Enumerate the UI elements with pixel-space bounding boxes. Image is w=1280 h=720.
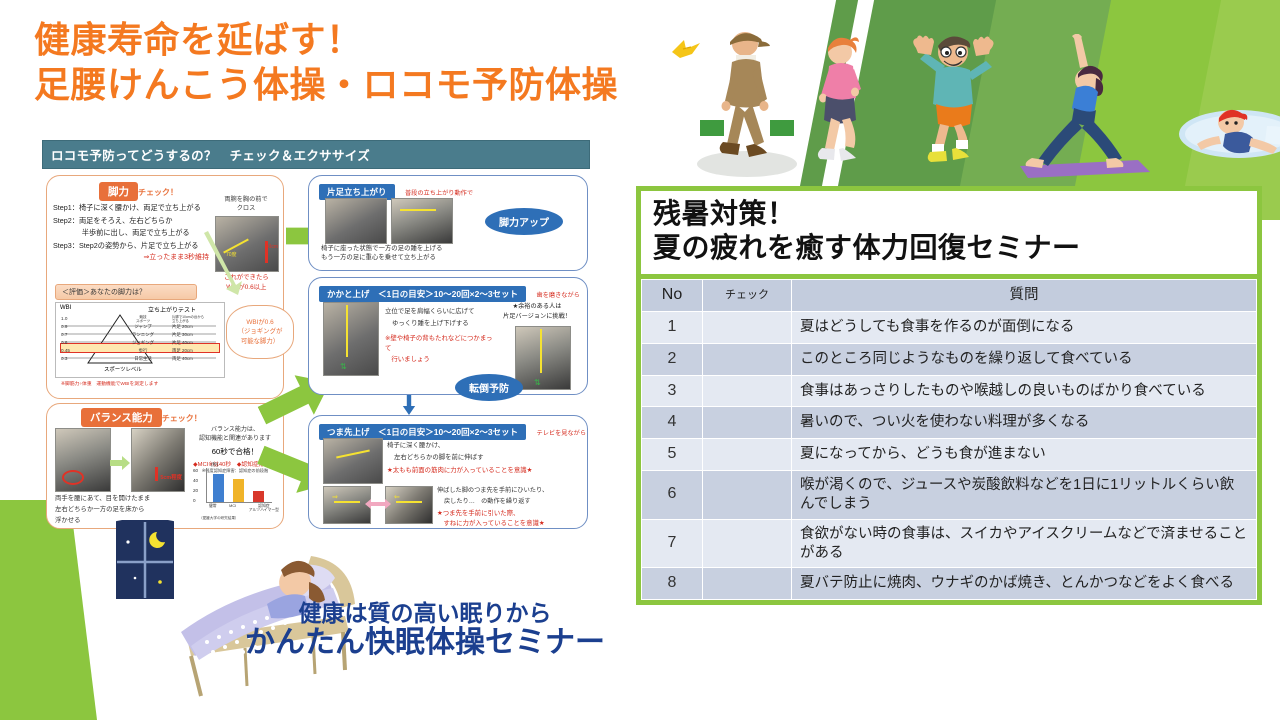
diagram-header: ロコモ予防ってどうするの？ チェック＆エクササイズ [42,140,590,169]
table-row: 8 夏バテ防止に焼肉、ウナギのかば焼き、とんかつなどをよく食べる [642,568,1257,600]
exercise-3-photo-c: ⇐ [385,486,433,524]
bar-dementia [253,491,264,502]
wbi-test-2: 片足 30cm [172,331,204,339]
leg-check-badge: 脚力 [99,182,138,201]
wbi-sport-0: 競技 スポーツ [118,315,168,323]
row-check-cell[interactable] [703,519,792,568]
exercise-1-bullet-1: もう一方の足に重心を乗せて立ち上がる [321,253,442,262]
wbi-axis-label: WBI [60,305,71,311]
seminar-title: 残暑対策！ 夏の疲れを癒す体力回復セミナー [653,197,1247,264]
balance-check-badge-suffix: チェック！ [162,414,202,423]
exercise-1-photo-b [391,198,453,244]
balance-check-box: バランス能力チェック！ 5cm程度 バランス能力は、 認知機能と関連があります … [46,403,284,529]
leg-check-badge-suffix: チェック！ [138,188,178,197]
balance-photo-1 [55,428,111,492]
row-check-cell[interactable] [703,407,792,439]
leg-step-2: Step2：両足をそろえ、左右どちらか [53,215,213,228]
row-no: 6 [642,470,703,519]
row-question: 夏になってから、どうも食が進まない [792,439,1257,471]
exercise-2-note-red: ※壁や椅子の背もたれなどにつかまって 行いましょう [385,334,493,365]
wbi-sport-1: ジャンプ [118,323,168,331]
row-no: 2 [642,343,703,375]
table-row: 6 喉が渇くので、ジュースや炭酸飲料などを1日に1リットルくらい飲んでしまう [642,470,1257,519]
illustration-group [650,8,1270,183]
pink-double-arrow-icon [365,498,391,510]
bar-mci [233,479,244,502]
wbi-val-3: 0.6 [61,339,70,347]
exercise-2-badge: 転倒予防 [455,374,523,401]
bar-chart-unit: (秒) [211,462,218,468]
exercise-3-bullet-0: 椅子に深く腰かけ、 [387,440,579,452]
exercise-2-photo-b: ⇅ [515,326,571,390]
row-check-cell[interactable] [703,375,792,407]
leg-step-3: Step3：Step2の姿勢から、片足で立ち上がる [53,240,213,253]
exercise-1-badge: 脚力アップ [485,208,563,235]
table-header-row: No チェック 質問 [642,280,1257,312]
row-no: 7 [642,519,703,568]
wbi-val-5: 0.3 [61,355,70,363]
wbi-test-0: 片脚で10cmの台から 立ち上がる [172,315,204,323]
wbi-val-2: 0.7 [61,331,70,339]
table-row: 7 食欲がない時の食事は、スイカやアイスクリームなどで済ませることがある [642,519,1257,568]
jogging-woman-illustration [798,26,888,181]
balance-photo-2: 5cm程度 [131,428,185,492]
table-row: 2 このところ同じようなものを繰り返して食べている [642,343,1257,375]
row-check-cell[interactable] [703,439,792,471]
wbi-sport-2: ランニング [118,331,168,339]
bar-label-0: 健常 [209,504,217,512]
jumping-man-illustration [898,28,1008,183]
leg-callout-bubble: WBIが0.6 （ジョギングが 可能な脚力） [226,305,294,359]
leg-photo-height: 40cm [266,245,278,250]
locomo-diagram: ロコモ予防ってどうするの？ チェック＆エクササイズ 脚力チェック！ Step1：… [42,140,590,530]
exercise-3-bullet-1: 左右どちらかの脚を前に伸ばす [387,452,579,464]
leg-eval-label: ＜評価＞あなたの脚力は？ [55,284,197,300]
green-pointer-line [202,229,248,299]
row-no: 3 [642,375,703,407]
exercise-1-bullet-0: 椅子に座った状態で一方の足の踵を上げる [321,244,442,253]
row-check-cell[interactable] [703,568,792,600]
balance-photo-label: 5cm程度 [160,473,182,481]
exercise-2-photo-a: ⇅ [323,302,379,376]
exercise-box-2: かかと上げ ＜1日の目安＞10～20回×2～3セット 歯を磨きながら ⇅ 立位で… [308,277,588,395]
row-check-cell[interactable] [703,470,792,519]
exercise-1-photo-a [325,198,387,244]
row-question: このところ同じようなものを繰り返して食べている [792,343,1257,375]
row-no: 1 [642,311,703,343]
bar-label-1: MCI [229,504,236,512]
balance-check-badge: バランス能力 [81,408,162,427]
small-green-arrow-icon [110,456,130,470]
exercise-3-note-red-2: ★つま先を手前に引いた際、 すねに力が入っていることを意識★ [437,509,581,530]
wbi-val-1: 0.9 [61,323,70,331]
wbi-test-5: 両足 40cm [172,355,204,363]
wbi-chart: WBI 立ち上がりテスト 1.0 0.9 0.7 [55,302,225,378]
wbi-val-0: 1.0 [61,315,70,323]
table-row: 3 食事はあっさりしたものや喉越しの良いものばかり食べている [642,375,1257,407]
row-question: 夏バテ防止に焼肉、ウナギのかば焼き、とんかつなどをよく食べる [792,568,1257,600]
row-check-cell[interactable] [703,311,792,343]
row-question: 喉が渇くので、ジュースや炭酸飲料などを1日に1リットルくらい飲んでしまう [792,470,1257,519]
exercise-3-photo-a [323,438,383,484]
exercise-3-bullet2-1: 戻したり… の動作を繰り返す [437,497,581,508]
sleep-seminar-line1: 健康は質の高い眠りから [245,600,605,626]
exercise-box-1: 片足立ち上がり 普段の立ち上がり動作で 脚力アップ 椅子に座った状態で一方の足の… [308,175,588,271]
balance-note: バランス能力は、 認知機能と関連があります [191,426,279,443]
walking-man-illustration [692,22,802,182]
slide-canvas: 健康寿命を延ばす！ 足腰けんこう体操・ロコモ予防体操 [0,0,1280,720]
wbi-test-4: 両足 20cm [172,347,204,355]
row-no: 5 [642,439,703,471]
page-title: 健康寿命を延ばす！ 足腰けんこう体操・ロコモ予防体操 [34,18,618,107]
leg-photo-caption: 両腕を胸の前で クロス [215,196,277,214]
checklist-table-wrap: No チェック 質問 1 夏はどうしても食事を作るのが面倒になる 2 このところ [636,279,1262,605]
row-question: 食欲がない時の食事は、スイカやアイスクリームなどで済ませることがある [792,519,1257,568]
col-header-question: 質問 [792,280,1257,312]
balance-bullet-1: 左右どちらか一方の足を床から [55,505,187,516]
leg-step-1: Step1：椅子に深く腰かけ、両足で立ち上がる [53,202,213,215]
checklist-table: No チェック 質問 1 夏はどうしても食事を作るのが面倒になる 2 このところ [641,279,1257,600]
wbi-test-1: 片足 20cm [172,323,204,331]
wbi-sport-3: ジョギング [118,339,168,347]
swimming-woman-illustration [1175,90,1280,170]
exercise-2-bullet-1: ゆっくり踵を上げ下げする [385,318,493,330]
leg-step-2b: 半歩前に出し、両足で立ち上がる [53,227,213,240]
exercise-3-subtitle: テレビを見ながら [537,430,587,437]
wbi-sport-4: 歩行 [118,347,168,355]
seminar-title-box: 残暑対策！ 夏の疲れを癒す体力回復セミナー [636,186,1262,279]
table-row: 5 夏になってから、どうも食が進まない [642,439,1257,471]
right-panel: 残暑対策！ 夏の疲れを癒す体力回復セミナー No チェック 質問 1 夏はどうし… [636,186,1262,706]
exercise-3-photo-b: ⇒ [323,486,371,524]
row-no: 4 [642,407,703,439]
col-header-check: チェック [703,280,792,312]
wbi-sport-5: 日常生活 [118,355,168,363]
bar-label-2: 認知症 アルツハイマー型 [249,504,279,512]
exercise-3-note-red-1: ★太もも前面の筋肉に力が入っていることを意識★ [387,467,579,476]
row-no: 8 [642,568,703,600]
yoga-woman-illustration [1010,34,1150,184]
exercise-3-bullet2-0: 伸ばした脚のつま先を手前にひいたり、 [437,486,581,497]
exercise-2-challenge: ★余裕のある人は 片足バージョンに挑戦！ [495,302,579,322]
wbi-footnote: ※脚筋力÷体重 運動機能でWBIを測定します [61,380,158,387]
exercise-2-title: かかと上げ ＜1日の目安＞10～20回×2～3セット [319,286,526,302]
exercise-box-3: つま先上げ ＜1日の目安＞10～20回×2～3セット テレビを見ながら 椅子に深… [308,415,588,529]
exercise-1-subtitle: 普段の立ち上がり動作で [405,190,473,197]
bar-healthy [213,474,224,502]
green-band-bottom-left [0,500,102,720]
wbi-val-4: 0.45 [61,347,70,355]
leg-step-note: ⇒立ったまま3秒維持 [53,252,213,262]
balance-bullet-0: 両手を腰にあて、目を開けたまま [55,494,187,505]
exercise-2-subtitle: 歯を磨きながら [537,292,580,299]
row-question: 暑いので、つい火を使わない料理が多くなる [792,407,1257,439]
row-check-cell[interactable] [703,343,792,375]
sleep-seminar-title: 健康は質の高い眠りから かんたん快眠体操セミナー [245,600,605,661]
sleep-seminar-line2: かんたん快眠体操セミナー [245,626,605,661]
row-question: 食事はあっさりしたものや喉越しの良いものばかり食べている [792,375,1257,407]
table-row: 1 夏はどうしても食事を作るのが面倒になる [642,311,1257,343]
col-header-no: No [642,280,703,312]
balance-bar-chart: (秒) 6040200 健常 MCI 認知症 アルツハイマー型 （愛媛大学の研究… [193,464,277,522]
wbi-test-3: 片足 40cm [172,339,204,347]
row-question: 夏はどうしても食事を作るのが面倒になる [792,311,1257,343]
wbi-x-label: スポーツレベル [104,365,142,373]
table-row: 4 暑いので、つい火を使わない料理が多くなる [642,407,1257,439]
exercise-2-bullet-0: 立位で足を肩幅くらいに広げて [385,306,493,318]
